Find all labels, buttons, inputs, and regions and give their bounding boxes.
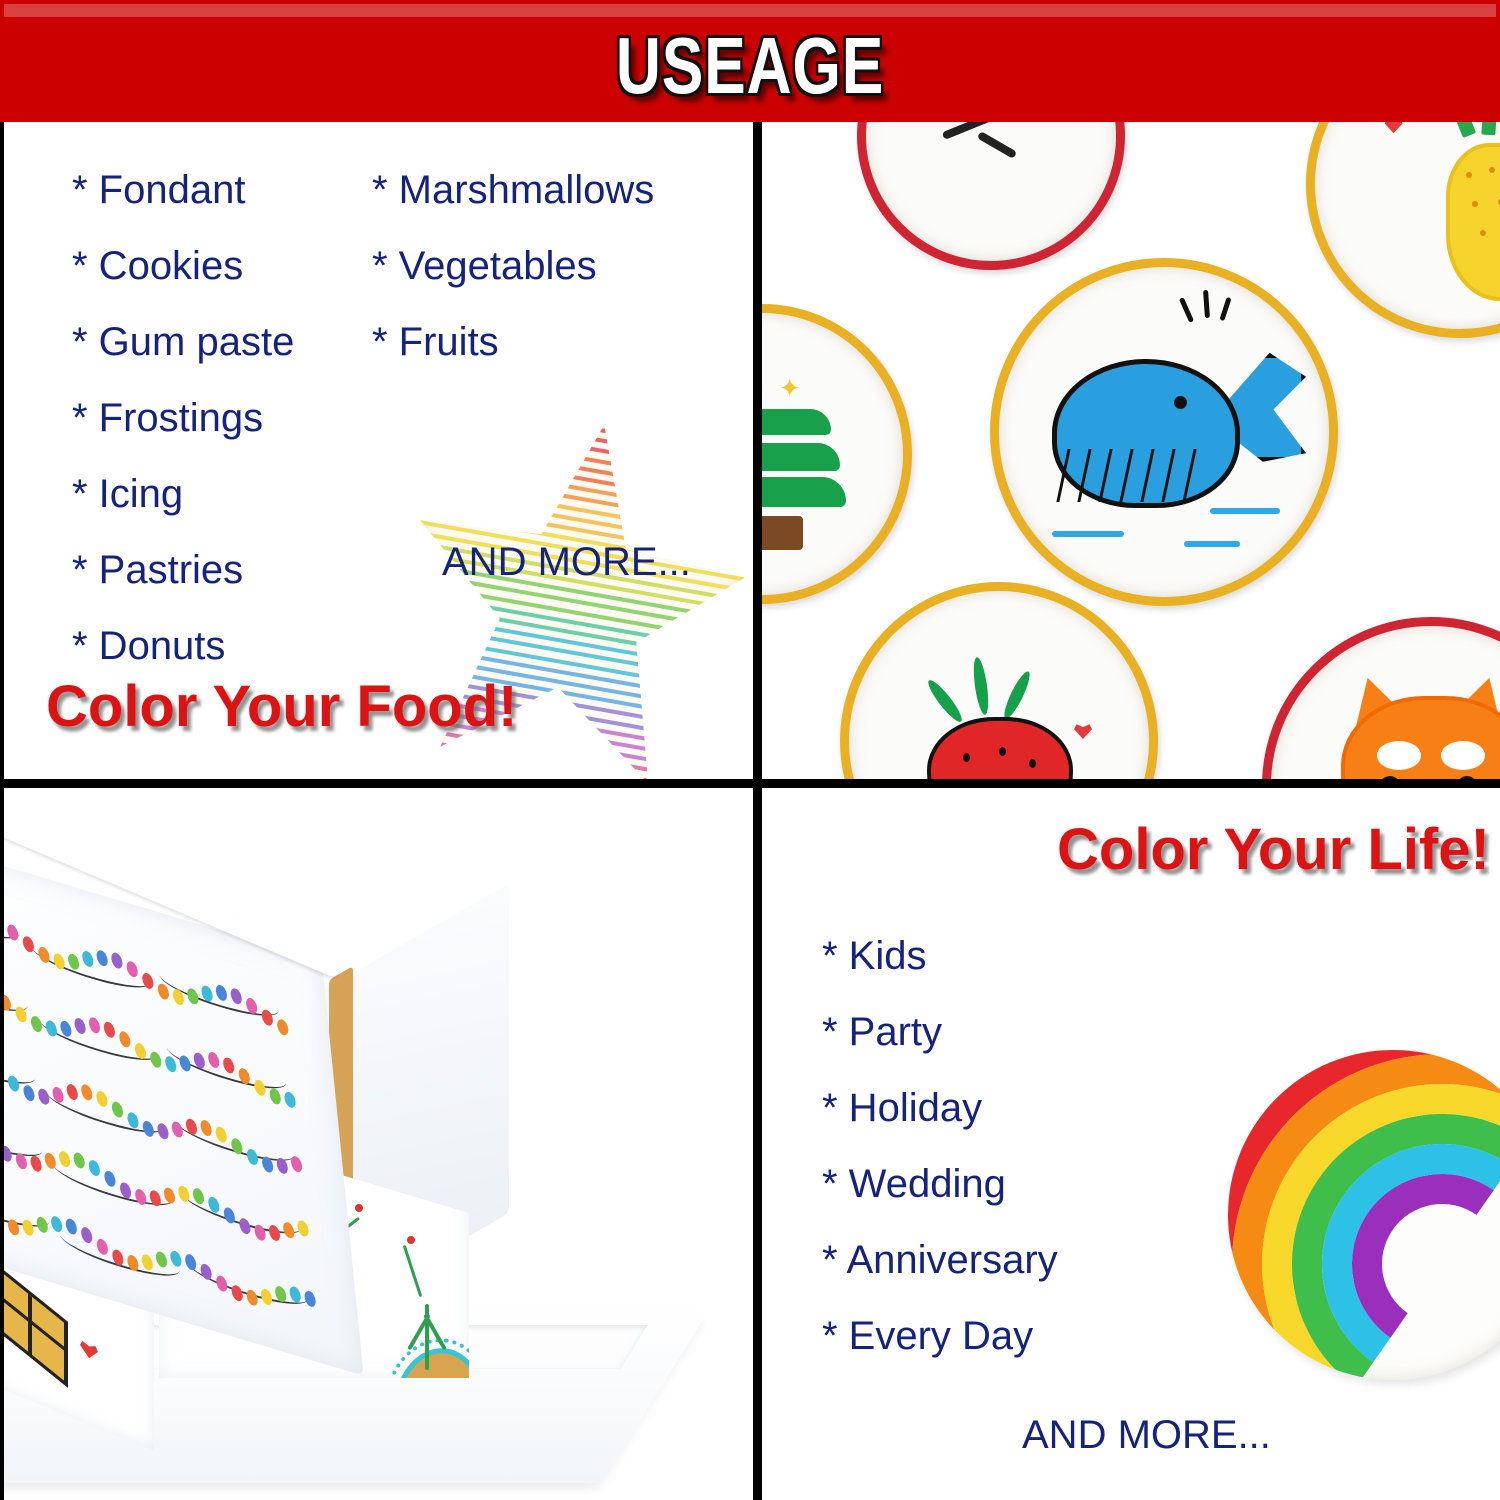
food-headline: Color Your Food!	[46, 673, 517, 740]
list-item: * Cookies	[72, 228, 294, 304]
light-bulb	[142, 972, 155, 991]
light-bulb	[50, 1214, 63, 1233]
page-title: USEAGE	[165, 16, 1335, 116]
light-bulb	[290, 1155, 303, 1174]
light-wire	[37, 1005, 159, 1070]
light-bulb	[284, 1090, 297, 1109]
light-bulb	[23, 1083, 36, 1102]
pineapple-leaf-icon	[1446, 122, 1476, 138]
water-wave	[1210, 508, 1280, 514]
fox-art: H	[1271, 626, 1500, 779]
whale-belly-stripes	[1062, 449, 1194, 502]
rainbow-stripe	[379, 595, 753, 668]
strawberry-seed	[963, 753, 970, 762]
strawberry-seed	[1029, 759, 1036, 768]
rainbow-stripe	[379, 605, 753, 678]
pineapple-leaf-icon	[1481, 122, 1498, 136]
strawberry-art	[849, 591, 1149, 779]
cookie-pineapple	[1306, 122, 1500, 338]
header-banner: USEAGE	[0, 0, 1500, 122]
panel-food-uses: * Fondant * Cookies * Gum paste * Frosti…	[4, 122, 753, 779]
bow-icon	[80, 1339, 98, 1362]
panel-life-uses: Color Your Life! * Kids * Party * Holida…	[762, 788, 1500, 1500]
panel-gingerbread-house	[4, 788, 753, 1500]
food-and-more-label: AND MORE...	[442, 540, 691, 585]
tree-trunk	[762, 516, 803, 550]
light-bulb	[150, 1051, 163, 1070]
list-item: * Fruits	[372, 304, 654, 380]
cookie-whale	[990, 258, 1338, 606]
spout-mark	[1179, 297, 1194, 323]
sparkle-icon: ✦	[779, 375, 801, 401]
pineapple-art	[1315, 122, 1500, 329]
cookie-partial-top	[857, 122, 1125, 270]
whale-art	[999, 267, 1329, 597]
water-wave	[1184, 541, 1240, 547]
tree-tier	[762, 477, 846, 507]
list-item: * Fondant	[72, 152, 294, 228]
light-bulb	[157, 1122, 170, 1141]
list-item: * Holiday	[822, 1070, 1058, 1146]
christmas-tree-art: ✦ ✦	[762, 313, 903, 595]
list-item: * Marshmallows	[372, 152, 654, 228]
light-bulb	[269, 1087, 282, 1106]
life-uses-list: * Kids * Party * Holiday * Wedding * Ann…	[822, 918, 1058, 1374]
cookie-fox: H	[1262, 617, 1500, 779]
scribble-mark	[977, 131, 1017, 159]
strawberry-leaf	[1000, 669, 1034, 721]
tree-tier	[762, 443, 840, 471]
rainbow-cookie-artwork	[1228, 1050, 1500, 1380]
rainbow-stripe	[408, 396, 753, 467]
spout-mark	[1220, 297, 1232, 321]
list-item: * Icing	[72, 456, 294, 532]
list-item: * Gum paste	[72, 304, 294, 380]
pine-sprig-icon	[403, 1245, 423, 1297]
infographic-page: USEAGE * Fondant * Cookies * Gum paste *…	[0, 0, 1500, 1500]
heart-icon	[1074, 723, 1092, 739]
food-uses-column-left: * Fondant * Cookies * Gum paste * Frosti…	[72, 152, 294, 684]
light-bulb	[22, 935, 35, 954]
gingerbread-house-artwork	[4, 843, 684, 1483]
light-bulb	[297, 1219, 310, 1238]
berry-dot	[407, 1236, 415, 1244]
fox-brow-patch	[1377, 741, 1422, 770]
rainbow-stripe	[379, 585, 753, 658]
rainbow-stripe	[406, 404, 753, 477]
gift-box	[355, 1494, 421, 1500]
light-wire	[187, 1248, 309, 1313]
rainbow-stripe	[379, 575, 753, 648]
vertical-divider	[753, 122, 762, 1500]
light-bulb	[277, 1018, 290, 1037]
light-bulb	[184, 1253, 197, 1272]
light-bulb	[304, 1289, 317, 1308]
fox-brow-patch	[1441, 741, 1486, 770]
list-item: * Frostings	[72, 380, 294, 456]
strawberry-leaf	[971, 656, 991, 715]
heart-icon	[1385, 122, 1403, 133]
light-bulb	[30, 1154, 43, 1173]
list-item: * Kids	[822, 918, 1058, 994]
list-item: * Every Day	[822, 1298, 1058, 1374]
cookie-strawberry	[840, 582, 1158, 779]
food-uses-column-right: * Marshmallows * Vegetables * Fruits	[372, 152, 654, 380]
cookie-christmas-tree: ✦ ✦	[762, 304, 912, 604]
light-bulb	[164, 1055, 177, 1074]
horizontal-divider	[0, 779, 1500, 788]
strawberry-seed	[999, 747, 1006, 756]
strawberry-leaf	[924, 677, 965, 725]
owl-eye	[509, 1495, 531, 1500]
cookie-partial-art	[866, 122, 1116, 261]
berry-dot	[355, 1204, 363, 1212]
light-bulb	[7, 923, 20, 942]
water-wave	[1052, 531, 1124, 537]
life-headline: Color Your Life!	[1057, 816, 1490, 883]
list-item: * Vegetables	[372, 228, 654, 304]
tree-tier	[762, 409, 831, 435]
list-item: * Pastries	[72, 532, 294, 608]
spout-mark	[1203, 290, 1210, 318]
life-and-more-label: AND MORE...	[1022, 1413, 1271, 1458]
light-bulb	[44, 1152, 57, 1171]
panel-cookies-photo: ✦ ✦	[762, 122, 1500, 779]
list-item: * Wedding	[822, 1146, 1058, 1222]
whale-eye	[1174, 396, 1187, 409]
owl-eye	[475, 1495, 497, 1500]
list-item: * Anniversary	[822, 1222, 1058, 1298]
pineapple-dot	[1489, 167, 1495, 173]
list-item: * Party	[822, 994, 1058, 1070]
gift-box	[265, 1494, 329, 1500]
